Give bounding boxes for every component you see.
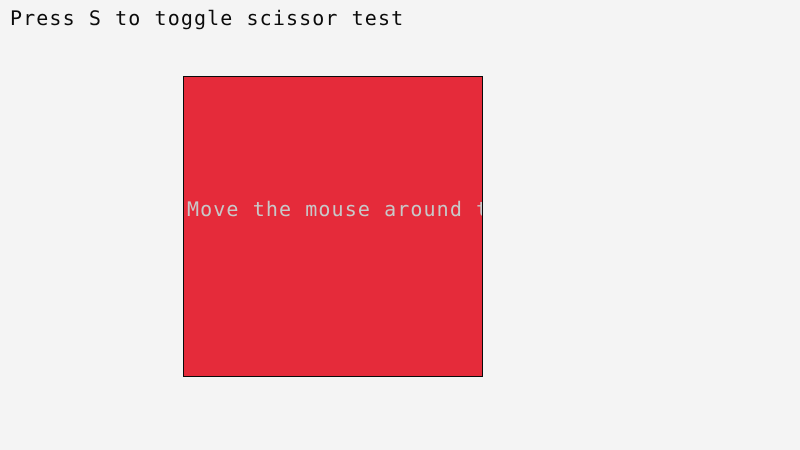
- app-canvas: Press S to toggle scissor test Move the …: [0, 0, 800, 450]
- scissor-clipped-message: Move the mouse around to reveal the rest: [187, 198, 483, 220]
- scissor-toggle-hint: Press S to toggle scissor test: [10, 7, 404, 29]
- scissor-region-rectangle[interactable]: Move the mouse around to reveal the rest: [183, 76, 483, 377]
